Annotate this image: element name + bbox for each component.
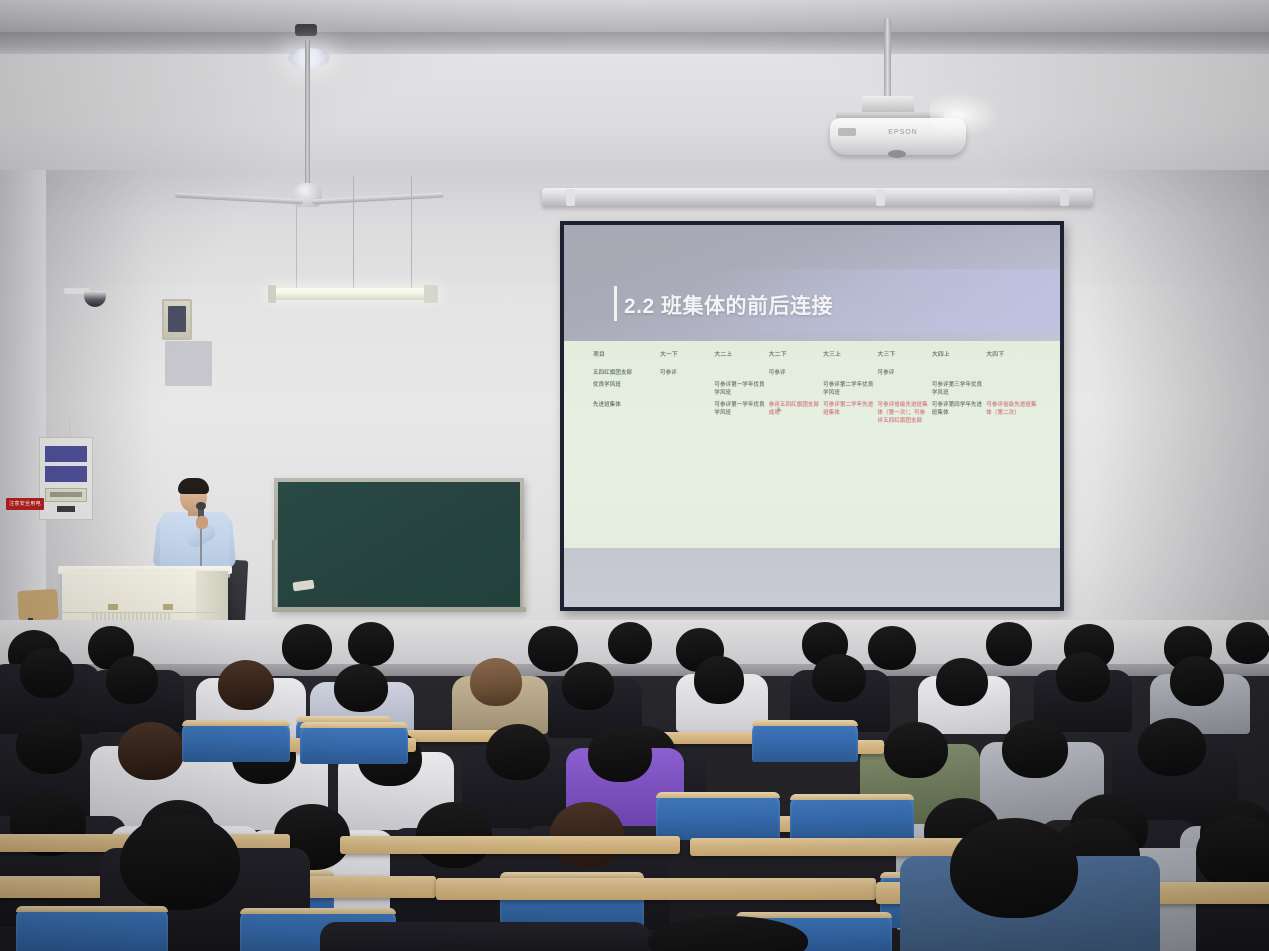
student-head	[118, 722, 184, 780]
projector-lens	[888, 150, 906, 158]
student-head	[1196, 816, 1269, 890]
student-head	[528, 626, 578, 672]
table-cell-highlight: 可参评省级先进班集体（第二次）	[984, 399, 1043, 427]
table-cell: 可参评第三学年优良学风班	[930, 379, 984, 399]
projector-brand-label: EPSON	[878, 129, 928, 136]
blackboard-chalk-tray	[272, 607, 526, 612]
student-head	[1226, 622, 1269, 664]
student-head	[1170, 656, 1224, 706]
wall-control-box-face	[168, 306, 186, 332]
fan-pull-chain-2[interactable]	[353, 176, 354, 290]
table-row: 优良学风班 可参评第一学年优良学风班 可参评第二学年优良学风班 可参评第三学年优…	[591, 379, 1043, 399]
table-cell	[984, 379, 1043, 399]
table-row: 先进班集体 可参评第一学年优良学风班 参评五四红旗团支部成功 可参评第二学年先进…	[591, 399, 1043, 427]
student-head	[1002, 720, 1068, 778]
wall-shadow-right	[1090, 170, 1269, 690]
table-cell	[658, 399, 712, 427]
seat-top	[790, 794, 914, 800]
table-header-cell: 大四上	[930, 349, 984, 367]
table-header-cell: 大三下	[876, 349, 930, 367]
table-header-cell: 大四下	[984, 349, 1043, 367]
student-head	[936, 658, 988, 706]
table-cell: 可参评第一学年优良学风班	[712, 379, 766, 399]
projector-mount-rod	[884, 18, 891, 100]
blackboard	[274, 478, 524, 611]
presenter-hair	[178, 478, 209, 494]
podium-lock-right[interactable]	[163, 604, 173, 610]
ceiling-light-glare	[930, 92, 1000, 137]
table-cell	[876, 379, 930, 399]
fluorescent-tube-light	[268, 288, 438, 300]
desk	[340, 836, 680, 854]
table-cell	[658, 379, 712, 399]
student-head	[694, 656, 744, 704]
table-cell: 可参评	[658, 367, 712, 379]
student-head	[348, 622, 394, 666]
fan-down-rod	[305, 40, 310, 205]
fan-pull-chain-3[interactable]	[411, 176, 412, 288]
student-head	[986, 622, 1032, 666]
projector-vent	[838, 128, 856, 136]
table-cell	[930, 367, 984, 379]
student-head	[550, 802, 624, 868]
student-head	[1056, 652, 1110, 702]
ceiling-beam	[0, 32, 1269, 54]
presenter-hand	[196, 516, 208, 529]
table-cell-highlight: 可参评省级先进班集体（第一次）；可参评五四红旗团支部	[876, 399, 930, 427]
table-header-cell: 大三上	[821, 349, 875, 367]
table-header-cell: 项目	[591, 349, 658, 367]
slide-title: 2.2 班集体的前后连接	[624, 290, 833, 320]
ceiling-soffit	[0, 54, 1269, 174]
panel-label-plate	[57, 506, 75, 512]
table-cell: 可参评第一学年优良学风班	[712, 399, 766, 427]
student-head	[16, 716, 82, 774]
blackboard-leg-right	[521, 540, 526, 612]
tube-hanger-left	[296, 206, 297, 290]
table-cell-highlight: 可参评第二学年先进班集体	[821, 399, 875, 427]
table-header-cell: 大二下	[767, 349, 821, 367]
student-head	[120, 814, 240, 910]
desk	[436, 878, 876, 900]
screen-bracket-right	[1060, 189, 1069, 206]
microphone-head	[196, 502, 206, 510]
table-header-row: 项目 大一下 大二上 大二下 大三上 大三下 大四上 大四下	[591, 349, 1043, 367]
blackboard-surface	[278, 482, 520, 607]
screen-bracket-center	[876, 189, 885, 206]
student-head	[218, 660, 274, 710]
warning-sign-text: 注意安全用电	[8, 500, 42, 507]
tube-end-cap-left	[268, 285, 276, 303]
panel-indicator-1	[45, 446, 87, 462]
student-head	[884, 722, 948, 778]
slide-footer-band	[564, 548, 1060, 607]
student-body	[320, 922, 650, 951]
seat-top	[300, 722, 408, 728]
student-head	[950, 818, 1078, 918]
table-row-label: 优良学风班	[591, 379, 658, 399]
slide-title-accent-bar	[614, 286, 617, 321]
table-cell: 可参评	[876, 367, 930, 379]
seat[interactable]	[300, 722, 408, 764]
student-head	[1138, 718, 1206, 776]
student-head	[868, 626, 916, 670]
table-row-label: 五四红旗团支部	[591, 367, 658, 379]
tube-end-cap-right	[424, 285, 438, 303]
projection-screen-case	[542, 188, 1093, 207]
table-header-cell: 大一下	[658, 349, 712, 367]
table-cell	[767, 379, 821, 399]
table-cell	[712, 367, 766, 379]
student-head	[608, 622, 652, 664]
lecture-hall-photo: EPSON 注意安全用电 2.2 班集体的前后连接	[0, 0, 1269, 951]
student-head	[562, 662, 614, 710]
student-head	[106, 656, 158, 704]
table-cell: 可参评第二学年优良学风班	[821, 379, 875, 399]
screen-bracket-left	[566, 189, 575, 206]
table-row-label: 先进班集体	[591, 399, 658, 427]
student-head	[20, 648, 74, 698]
student-head	[812, 654, 866, 702]
blackboard-leg-left	[272, 540, 277, 612]
seat[interactable]	[16, 906, 168, 951]
slide: 2.2 班集体的前后连接 项目 大一下 大二上 大二下 大三上 大三下 大四上	[564, 225, 1060, 607]
wooden-chair[interactable]	[17, 589, 59, 621]
wall-speaker	[165, 341, 212, 386]
table-cell: 可参评	[767, 367, 821, 379]
fan-ceiling-mount	[295, 24, 317, 36]
student-head	[588, 726, 652, 782]
student-head	[470, 658, 522, 706]
seat[interactable]	[752, 720, 858, 762]
seat-top	[16, 906, 168, 912]
seat[interactable]	[790, 794, 914, 842]
student-head	[334, 664, 388, 712]
seat[interactable]	[182, 720, 290, 762]
seat-top	[240, 908, 396, 914]
table-header-cell: 大二上	[712, 349, 766, 367]
student-head	[486, 724, 550, 780]
seat-top	[656, 792, 780, 798]
audience-area: JHYQLAB	[0, 620, 1269, 951]
seat-top	[182, 720, 290, 726]
table-cell: 可参评第四学年先进班集体	[930, 399, 984, 427]
table-row: 五四红旗团支部 可参评 可参评 可参评	[591, 367, 1043, 379]
slide-table: 项目 大一下 大二上 大二下 大三上 大三下 大四上 大四下 五四红旗团支部	[591, 349, 1043, 427]
projection-screen: 2.2 班集体的前后连接 项目 大一下 大二上 大二下 大三上 大三下 大四上	[560, 221, 1064, 611]
table-cell	[821, 367, 875, 379]
table-cell	[984, 367, 1043, 379]
seat[interactable]	[656, 792, 780, 840]
panel-indicator-2	[45, 466, 87, 482]
table-cell-highlight: 参评五四红旗团支部成功	[767, 399, 821, 427]
student-head	[416, 802, 492, 868]
podium-lock-left[interactable]	[108, 604, 118, 610]
seat-top	[752, 720, 858, 726]
microphone-cord	[200, 523, 202, 569]
student-head	[282, 624, 332, 670]
panel-switch-inner	[50, 492, 82, 497]
